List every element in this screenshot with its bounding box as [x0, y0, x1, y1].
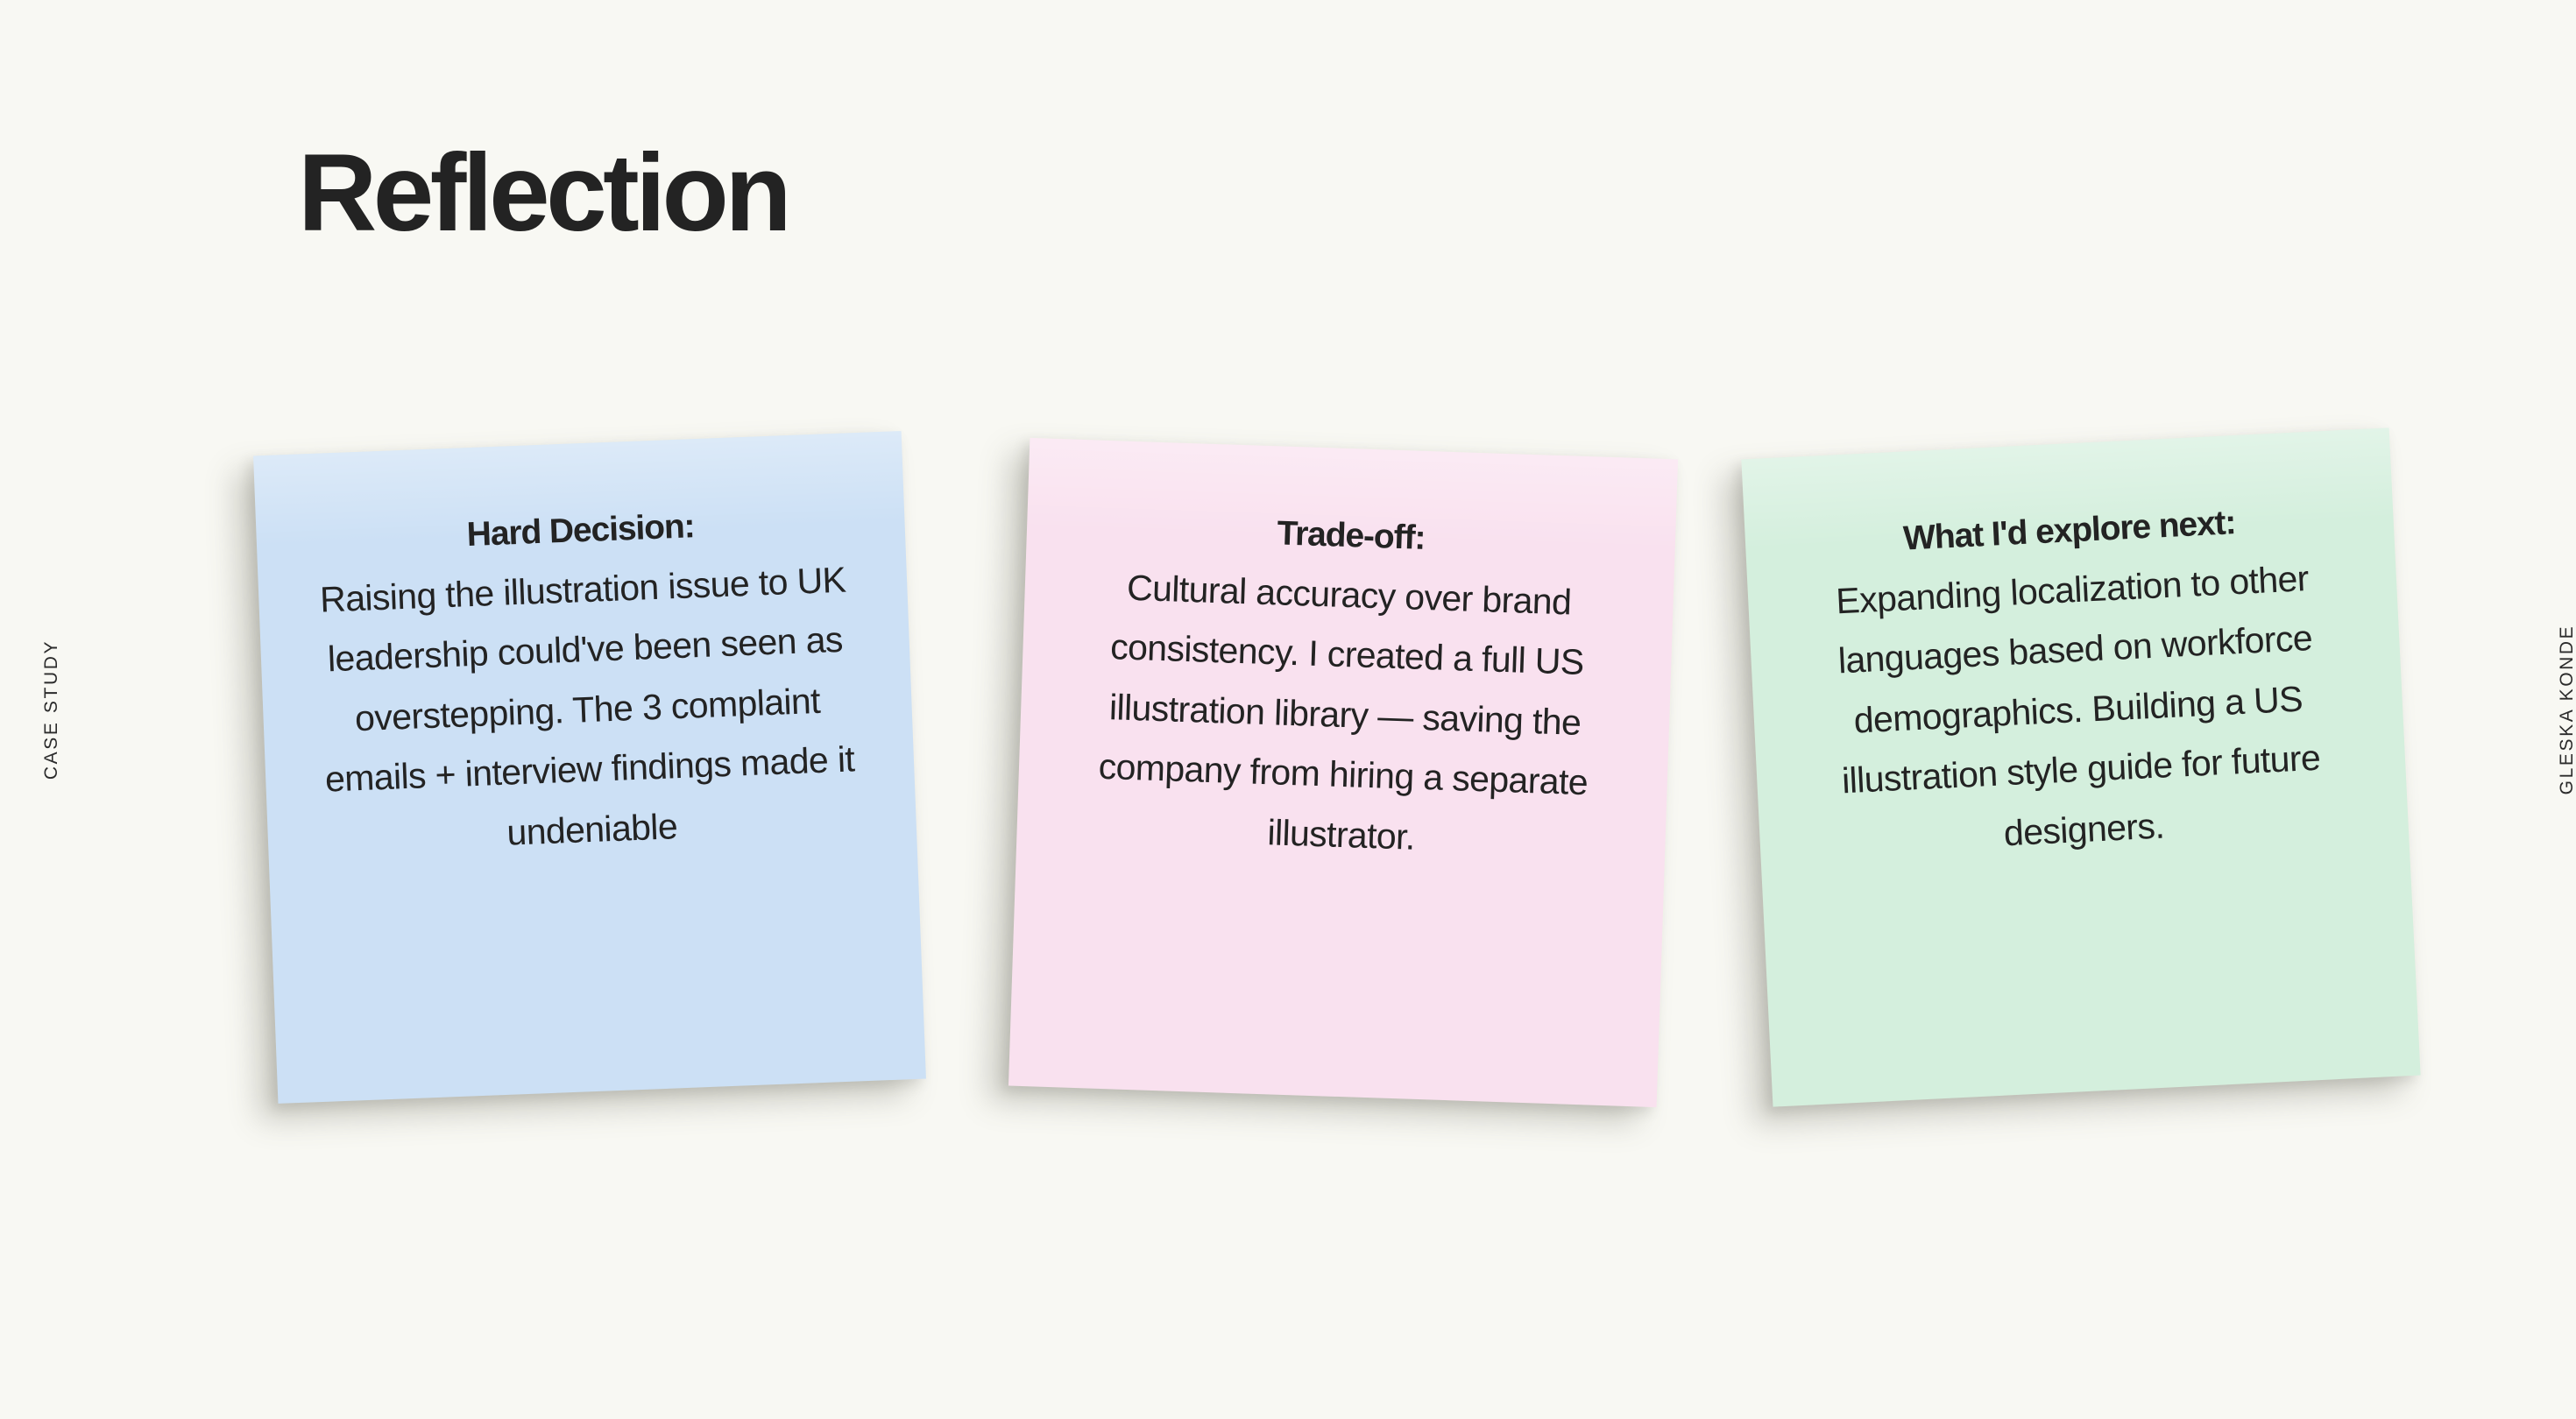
sticky-note-heading: Trade-off:: [1277, 514, 1426, 558]
sticky-note-body: Raising the illustration issue to UK lea…: [310, 549, 865, 870]
sticky-note-heading: Hard Decision:: [466, 507, 695, 555]
sticky-note-body: Expanding localization to other language…: [1800, 547, 2357, 872]
sticky-note-heading: What I'd explore next:: [1902, 504, 2236, 559]
sticky-note-hard-decision[interactable]: Hard Decision: Raising the illustration …: [253, 431, 926, 1104]
sticky-notes-container: Hard Decision: Raising the illustration …: [0, 0, 2576, 1419]
sticky-note-explore-next[interactable]: What I'd explore next: Expanding localiz…: [1741, 427, 2420, 1106]
sticky-note-body: Cultural accuracy over brand consistency…: [1069, 556, 1622, 874]
sticky-note-trade-off[interactable]: Trade-off: Cultural accuracy over brand …: [1008, 438, 1678, 1107]
